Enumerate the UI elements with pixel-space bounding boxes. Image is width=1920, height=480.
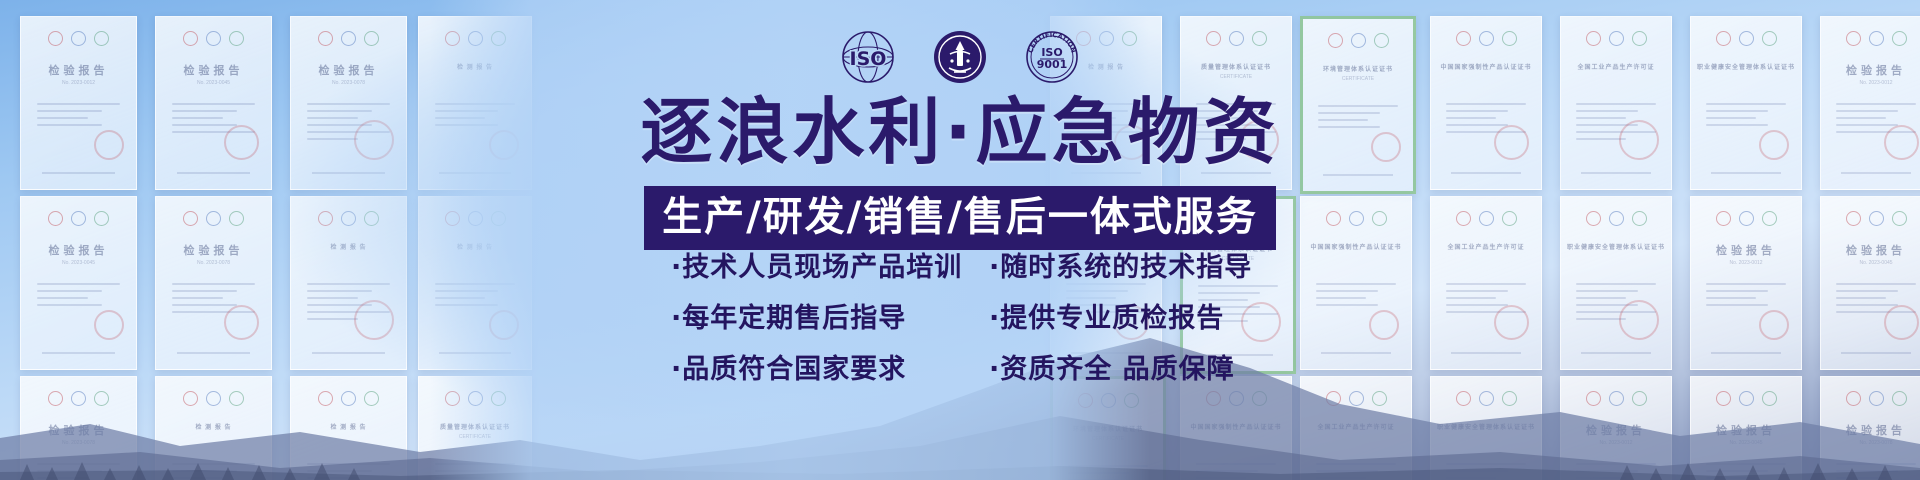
page-title: 逐浪水利·应急物资 bbox=[0, 96, 1920, 168]
promo-banner: 检验报告No. 2023-0012检验报告No. 2023-0045检验报告No… bbox=[0, 0, 1920, 480]
feature-bullets: ·技术人员现场产品培训·随时系统的技术指导·每年定期售后指导·提供专业质检报告·… bbox=[0, 252, 1920, 385]
feature-bullet: ·提供专业质检报告 bbox=[989, 303, 1249, 334]
iso-9001-seal-icon: CERTIFICATION ISO 9001 bbox=[1023, 28, 1081, 86]
certification-seal-row: ISO bbox=[0, 28, 1920, 86]
feature-bullet: ·每年定期售后指导 bbox=[671, 303, 971, 334]
feature-bullet: ·品质符合国家要求 bbox=[671, 354, 971, 385]
iso-globe-seal-icon: ISO bbox=[839, 28, 897, 86]
feature-bullet: ·随时系统的技术指导 bbox=[989, 252, 1249, 283]
svg-text:9001: 9001 bbox=[1037, 58, 1068, 71]
subtitle-band-wrapper: 生产/研发/销售/售后一体式服务 bbox=[0, 186, 1920, 250]
national-emblem-seal-icon bbox=[931, 28, 989, 86]
feature-bullet: ·资质齐全 品质保障 bbox=[989, 354, 1249, 385]
svg-text:ISO: ISO bbox=[850, 48, 887, 70]
subtitle-band: 生产/研发/销售/售后一体式服务 bbox=[644, 186, 1276, 250]
feature-bullet: ·技术人员现场产品培训 bbox=[671, 252, 971, 283]
banner-content: ISO bbox=[0, 0, 1920, 480]
